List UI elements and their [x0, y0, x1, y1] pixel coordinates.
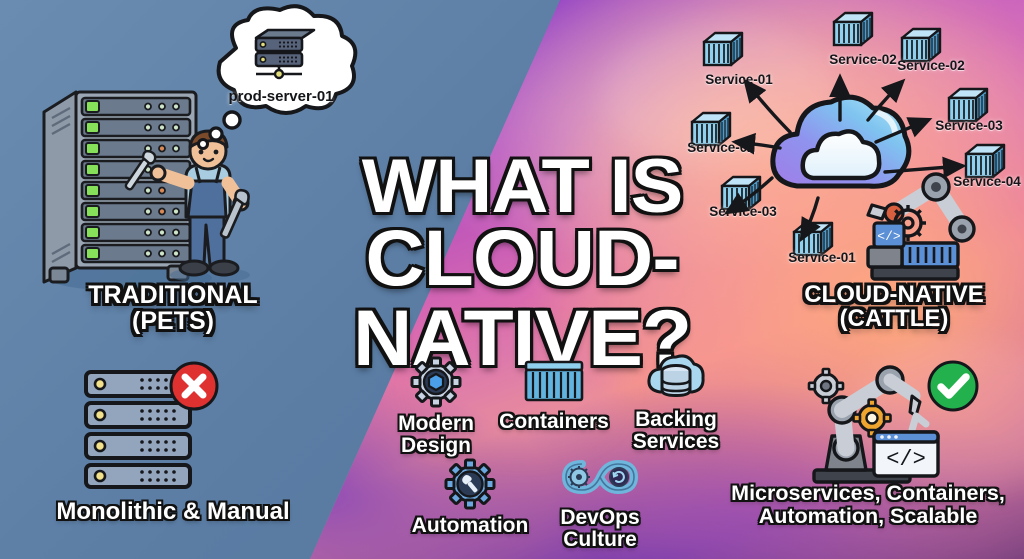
- microservices-caption-line2: Automation, Scalable: [759, 504, 978, 528]
- feature-label-line1: Modern: [398, 412, 474, 435]
- svg-text:</>: </>: [886, 447, 926, 472]
- monolithic-caption: Monolithic & Manual: [8, 499, 338, 524]
- cloud-native-caption-line2: (CATTLE): [840, 305, 949, 332]
- devops-infinity-icon: [556, 452, 644, 502]
- container-icon: [523, 358, 585, 406]
- feature-label-line2: Culture: [563, 528, 637, 551]
- feature-label-line2: Services: [633, 430, 719, 453]
- prod-server-label: prod-server-01: [216, 88, 346, 105]
- feature-automation-label: Automation: [412, 515, 529, 537]
- feature-label-line1: DevOps: [560, 506, 639, 529]
- cloud-native-caption: CLOUD-NATIVE (CATTLE): [778, 283, 1010, 332]
- feature-label-line1: Backing: [635, 408, 717, 431]
- feature-containers: Containers: [494, 358, 614, 433]
- cloud-database-icon: [646, 352, 706, 404]
- robot-arm-icon: </>: [850, 165, 985, 285]
- feature-containers-label: Containers: [499, 411, 609, 433]
- thought-bubble: prod-server-01: [196, 6, 366, 136]
- microservices-caption: Microservices, Containers, Automation, S…: [718, 482, 1018, 527]
- feature-devops-culture: DevOps Culture: [540, 452, 660, 551]
- check-badge: [925, 358, 981, 414]
- thought-bubble-dots: [190, 110, 246, 152]
- cross-badge: [168, 360, 220, 412]
- svg-text:</>: </>: [877, 229, 901, 244]
- server-unit-icon: [244, 24, 322, 86]
- feature-label-line2: Design: [401, 434, 471, 457]
- traditional-caption-line1: TRADITIONAL: [88, 281, 257, 309]
- page-title: WHAT IS CLOUD-NATIVE?: [252, 148, 793, 379]
- microservices-caption-line1: Microservices, Containers,: [731, 481, 1005, 505]
- feature-backing-services-label: Backing Services: [633, 409, 719, 453]
- feature-automation: Automation: [400, 458, 540, 537]
- traditional-caption-line2: (PETS): [132, 307, 214, 335]
- gear-wrench-icon: [444, 458, 496, 510]
- feature-backing-services: Backing Services: [624, 352, 728, 453]
- feature-devops-culture-label: DevOps Culture: [560, 507, 639, 551]
- infographic-canvas: prod-server-01 TRADITIONAL (PETS): [0, 0, 1024, 559]
- gear-hexagon-icon: [410, 356, 462, 408]
- cloud-native-caption-line1: CLOUD-NATIVE: [804, 281, 984, 308]
- feature-modern-design-label: Modern Design: [398, 413, 474, 457]
- feature-modern-design: Modern Design: [390, 356, 482, 457]
